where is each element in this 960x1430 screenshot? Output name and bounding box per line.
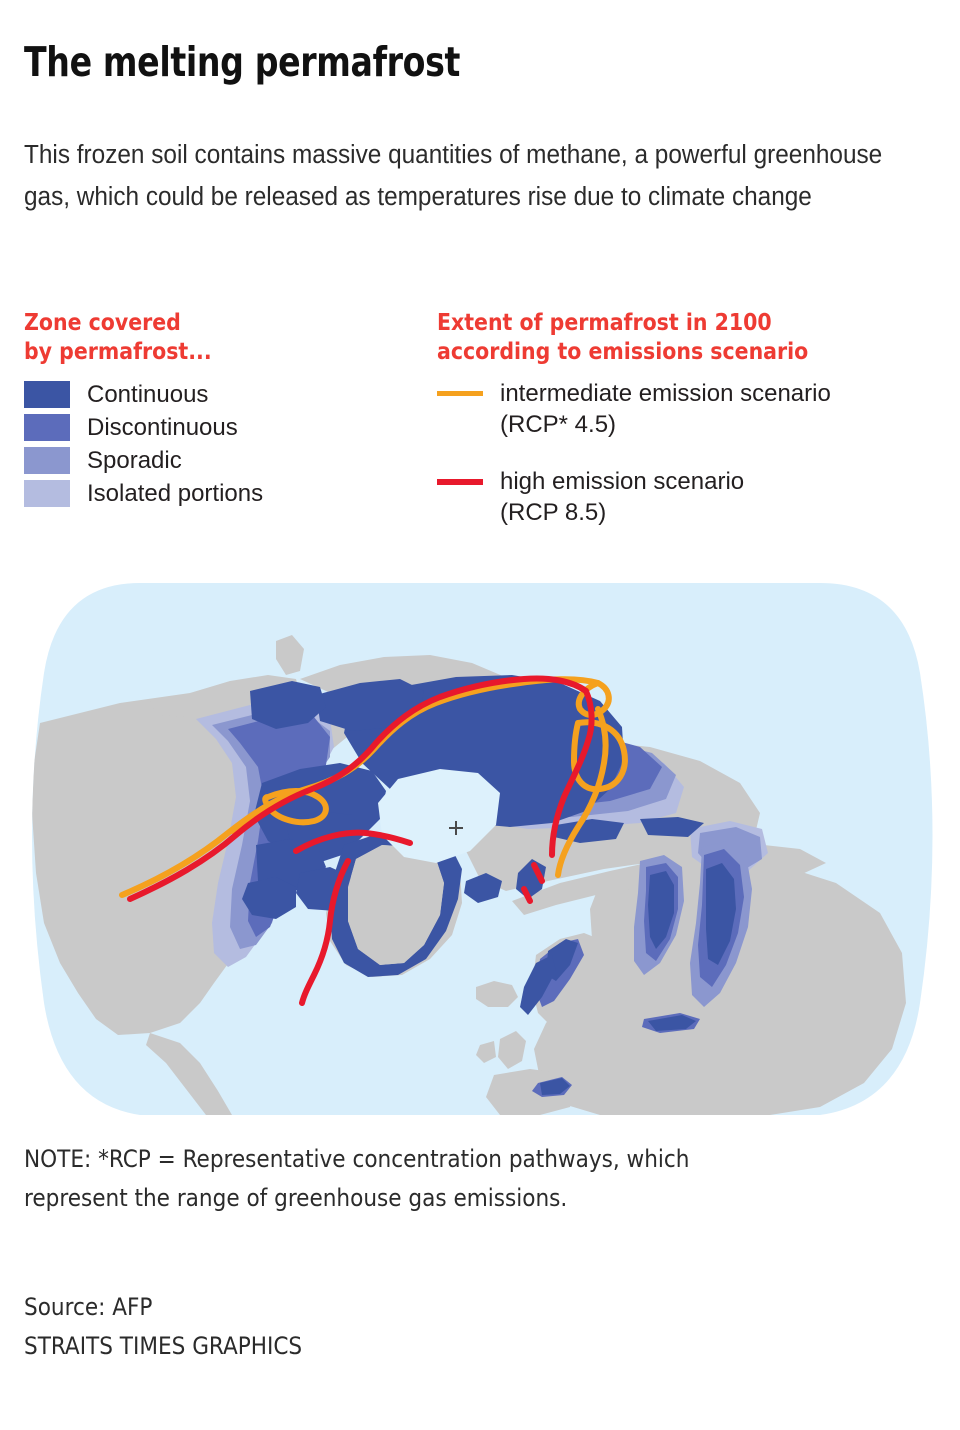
legend-label-rcp85: high emission scenario (RCP 8.5) xyxy=(500,466,744,528)
footnote-line1: NOTE: *RCP = Representative concentratio… xyxy=(24,1140,924,1179)
legend-label-rcp85-line1: high emission scenario xyxy=(500,466,744,497)
legend-label-continuous: Continuous xyxy=(87,381,208,408)
legend-label-rcp45-line1: intermediate emission scenario xyxy=(500,378,831,409)
legend-zones-heading: Zone covered by permafrost... xyxy=(24,308,412,366)
arctic-permafrost-map[interactable] xyxy=(0,583,960,1117)
legend-scenarios-heading-line1: Extent of permafrost in 2100 xyxy=(437,308,922,337)
legend-scenarios-heading-line2: according to emissions scenario xyxy=(437,337,922,366)
legend-item-continuous[interactable]: Continuous xyxy=(24,378,424,411)
footnote: NOTE: *RCP = Representative concentratio… xyxy=(24,1140,924,1218)
legend-zones-heading-line1: Zone covered xyxy=(24,308,412,337)
source-line: Source: AFP xyxy=(24,1288,302,1327)
legend-item-rcp45[interactable]: intermediate emission scenario (RCP* 4.5… xyxy=(437,378,937,440)
line-swatch-rcp45 xyxy=(437,391,483,396)
legend-label-rcp85-line2: (RCP 8.5) xyxy=(500,497,744,528)
color-swatch-discontinuous xyxy=(24,414,70,441)
page-subtitle: This frozen soil contains massive quanti… xyxy=(24,134,895,218)
infographic-page: The melting permafrost This frozen soil … xyxy=(0,0,960,1430)
legend-item-sporadic[interactable]: Sporadic xyxy=(24,444,424,477)
color-swatch-isolated-portions xyxy=(24,480,70,507)
color-swatch-sporadic xyxy=(24,447,70,474)
legend-permafrost-zones: Zone covered by permafrost... Continuous… xyxy=(24,308,424,510)
legend-scenarios-heading: Extent of permafrost in 2100 according t… xyxy=(437,308,922,366)
legend-item-rcp85[interactable]: high emission scenario (RCP 8.5) xyxy=(437,466,937,528)
credit-line: STRAITS TIMES GRAPHICS xyxy=(24,1327,302,1366)
legend-label-rcp45-line2: (RCP* 4.5) xyxy=(500,409,831,440)
line-swatch-rcp85 xyxy=(437,479,483,485)
legend-emission-scenarios: Extent of permafrost in 2100 according t… xyxy=(437,308,937,528)
legend-item-discontinuous[interactable]: Discontinuous xyxy=(24,411,424,444)
legend-label-rcp45: intermediate emission scenario (RCP* 4.5… xyxy=(500,378,831,440)
legend-item-isolated-portions[interactable]: Isolated portions xyxy=(24,477,424,510)
legend-zones-heading-line2: by permafrost... xyxy=(24,337,412,366)
footnote-line2: represent the range of greenhouse gas em… xyxy=(24,1179,924,1218)
legend-label-isolated-portions: Isolated portions xyxy=(87,480,263,507)
color-swatch-continuous xyxy=(24,381,70,408)
page-title: The melting permafrost xyxy=(24,42,460,83)
legend-label-sporadic: Sporadic xyxy=(87,447,182,474)
source-block: Source: AFP STRAITS TIMES GRAPHICS xyxy=(24,1288,302,1366)
legend-label-discontinuous: Discontinuous xyxy=(87,414,238,441)
